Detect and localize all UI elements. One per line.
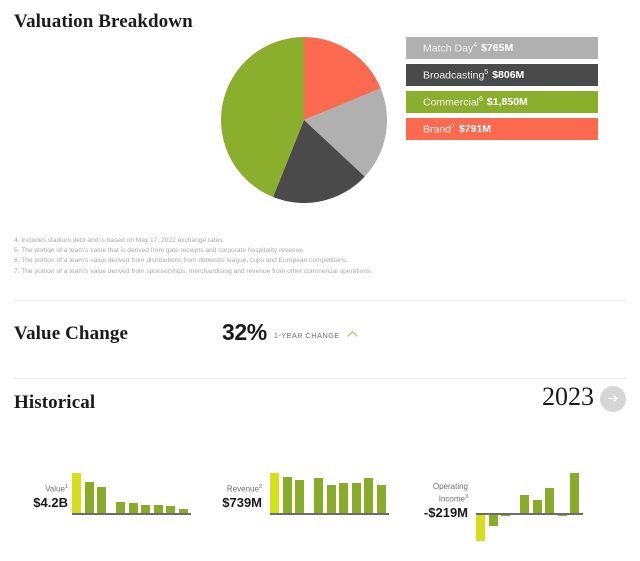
bar[interactable] [489,515,498,526]
legend-item-value: $1,850M [487,96,528,108]
value-change-percent: 32% [222,319,267,346]
valuation-breakdown-section: Valuation Breakdown Match Day4$765MBroad… [0,0,640,222]
divider-top [14,300,626,301]
legend-item-label: Brand7 [423,123,455,136]
valuation-page: Valuation Breakdown Match Day4$765MBroad… [0,0,640,561]
mini-chart-value: -$219M [406,505,468,520]
legend-item-label: Broadcasting5 [423,69,488,82]
value-change-title: Value Change [14,323,128,345]
legend-item-footnote-marker: 6 [479,96,483,103]
legend-item-broadcasting[interactable]: Broadcasting5$806M [406,64,598,86]
arrow-up-icon [347,330,358,338]
legend-item-value: $806M [492,69,524,81]
mini-chart-name-text: Operating Income [433,482,468,504]
historical-section: Historical 2023 Value1$4.2BRevenue2$739M… [0,382,640,561]
pie-svg [218,36,390,204]
mini-chart-operating-income: Operating Income3-$219M [0,470,640,560]
value-change-stat: 32% 1-YEAR CHANGE [222,319,358,346]
bar[interactable] [558,515,567,516]
value-change-section: Value Change 32% 1-YEAR CHANGE [0,302,640,372]
divider-bottom [14,378,626,379]
page-title: Valuation Breakdown [14,11,193,33]
valuation-pie-chart [218,36,390,204]
legend-item-commercial[interactable]: Commercial6$1,850M [406,91,598,113]
mini-chart-bars [476,470,640,560]
legend-item-label: Commercial6 [423,96,483,109]
legend-item-footnote-marker: 4 [473,42,477,49]
mini-chart-footnote-marker: 3 [465,494,468,500]
bar[interactable] [533,500,542,513]
next-year-button[interactable] [600,386,626,412]
mini-chart-axis [476,513,583,515]
historical-title: Historical [14,392,95,414]
footnotes: 4. Includes stadium debt and is based on… [14,236,614,277]
valuation-legend: Match Day4$765MBroadcasting5$806MCommerc… [406,37,598,145]
bar[interactable] [501,515,510,516]
historical-mini-charts: Value1$4.2BRevenue2$739MOperating Income… [0,470,640,560]
footnote-6: 6. The portion of a team's value derived… [14,256,614,266]
bar[interactable] [545,488,554,513]
legend-item-label: Match Day4 [423,42,477,55]
bar[interactable] [520,495,529,513]
footnote-5: 5. The portion of a team's value that is… [14,246,614,256]
legend-item-brand[interactable]: Brand7$791M [406,118,598,140]
legend-item-match-day[interactable]: Match Day4$765M [406,37,598,59]
footnote-7: 7. The portion of a team's value derived… [14,267,614,277]
legend-item-value: $791M [459,123,491,135]
legend-item-footnote-marker: 5 [484,69,488,76]
year-label: 2023 [542,382,594,412]
bar[interactable] [476,515,485,542]
legend-item-value: $765M [481,42,513,54]
mini-chart-name: Operating Income3 [406,482,468,505]
bar[interactable] [570,473,579,513]
legend-item-footnote-marker: 7 [451,123,455,130]
value-change-label: 1-YEAR CHANGE [274,331,340,340]
arrow-right-icon [608,394,619,403]
mini-chart-caption: Operating Income3-$219M [406,482,468,520]
footnote-4: 4. Includes stadium debt and is based on… [14,236,614,246]
year-selector[interactable]: 2023 [542,382,626,412]
